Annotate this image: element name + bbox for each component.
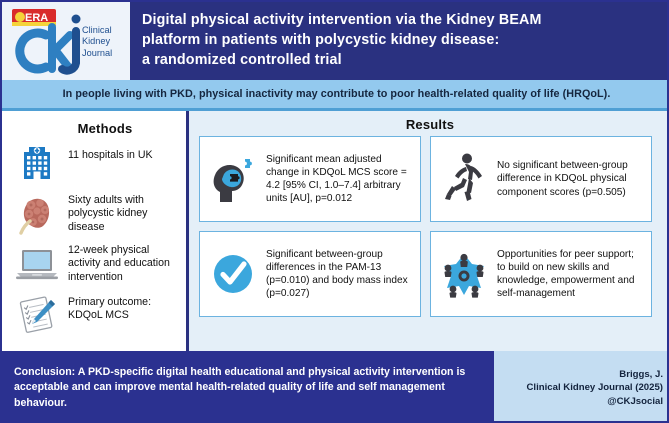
page-title: Digital physical activity intervention v…: [130, 2, 669, 80]
result-card-pam13: Significant between-group differences in…: [199, 231, 421, 317]
citation-handle[interactable]: @CKJsocial: [607, 395, 663, 409]
methods-item-outcome: Primary outcome: KDQoL MCS: [2, 290, 186, 338]
methods-item-intervention: 12-week physical activity and education …: [2, 240, 186, 288]
title-line-1: Digital physical activity intervention v…: [142, 11, 542, 31]
methods-item-hospitals: 11 hospitals in UK: [2, 140, 186, 188]
logo-line-kidney: Kidney: [82, 36, 112, 47]
result-card-text: Significant between-group differences in…: [266, 248, 413, 300]
methods-item-label: 11 hospitals in UK: [68, 141, 153, 162]
result-card-peer-support: Opportunities for peer support; to build…: [430, 231, 652, 317]
clipboard-icon: [14, 291, 60, 337]
subtitle-banner: In people living with PKD, physical inac…: [2, 80, 669, 111]
journal-logo: ERA Clinical Kidney Journal: [2, 2, 130, 80]
logo-line-clinical: Clinical: [82, 25, 112, 36]
results-column: Results Significant mean adjusted change…: [189, 111, 669, 351]
citation-journal: Clinical Kidney Journal (2025): [527, 381, 664, 395]
conclusion-panel: Conclusion: A PKD-specific digital healt…: [2, 351, 494, 423]
hospital-icon: [14, 141, 60, 187]
methods-heading: Methods: [2, 121, 186, 136]
brain-puzzle-icon: [206, 150, 260, 208]
methods-column: Methods: [2, 111, 189, 351]
results-heading: Results: [199, 117, 661, 132]
methods-item-participants: Sixty adults with polycystic kidney dise…: [2, 190, 186, 238]
subtitle-text: In people living with PKD, physical inac…: [63, 88, 611, 100]
conclusion-text: Conclusion: A PKD-specific digital healt…: [14, 365, 482, 410]
result-card-mcs: Significant mean adjusted change in KDQo…: [199, 136, 421, 222]
methods-item-label: Primary outcome: KDQoL MCS: [68, 291, 180, 323]
title-line-3: a randomized controlled trial: [142, 51, 542, 71]
header-bar: ERA Clinical Kidney Journal: [2, 2, 669, 80]
logo-line-journal: Journal: [82, 48, 112, 59]
results-card-grid: Significant mean adjusted change in KDQo…: [199, 136, 661, 317]
teamwork-icon: [437, 245, 491, 303]
result-card-text: No significant between-group difference …: [497, 159, 644, 198]
running-person-icon: [437, 150, 491, 208]
methods-item-label: 12-week physical activity and education …: [68, 241, 180, 284]
body-area: Methods: [2, 111, 669, 351]
citation-panel: Briggs, J. Clinical Kidney Journal (2025…: [494, 351, 669, 423]
laptop-icon: [14, 241, 60, 287]
check-circle-icon: [206, 245, 260, 303]
result-card-text: Significant mean adjusted change in KDQo…: [266, 153, 413, 205]
title-line-2: platform in patients with polycystic kid…: [142, 31, 542, 51]
citation-author: Briggs, J.: [619, 368, 663, 382]
infographic-poster: ERA Clinical Kidney Journal: [0, 0, 669, 423]
result-card-text: Opportunities for peer support; to build…: [497, 248, 644, 300]
methods-item-label: Sixty adults with polycystic kidney dise…: [68, 191, 180, 234]
footer-bar: Conclusion: A PKD-specific digital healt…: [2, 351, 669, 423]
kidney-icon: [14, 191, 60, 237]
result-card-physical: No significant between-group difference …: [430, 136, 652, 222]
